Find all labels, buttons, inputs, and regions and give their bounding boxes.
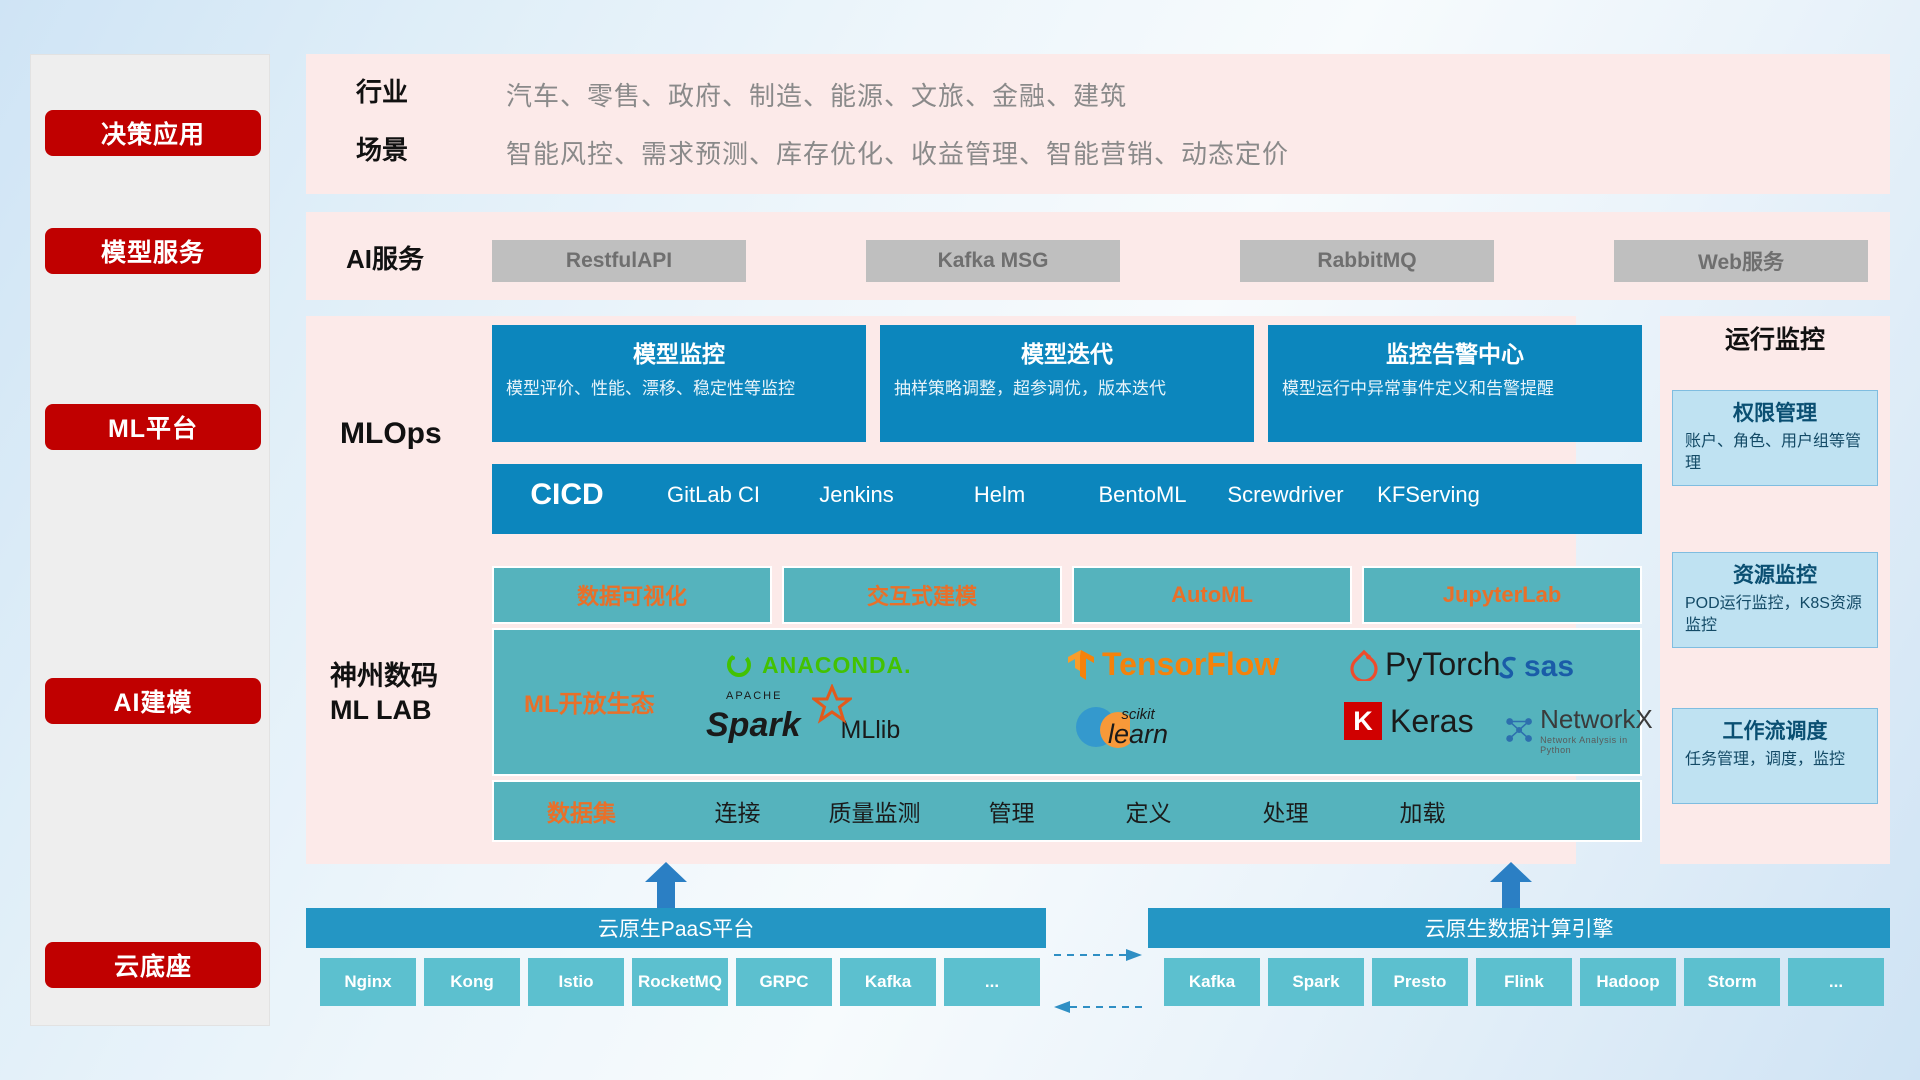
mlops-card-model-monitor[interactable]: 模型监控 模型评价、性能、漂移、稳定性等监控: [492, 325, 866, 442]
industry-label: 行业: [356, 76, 408, 109]
monitor-card-permission[interactable]: 权限管理 账户、角色、用户组等管理: [1672, 390, 1878, 486]
rail-label: ML平台: [108, 409, 198, 445]
mlops-card-alert-center[interactable]: 监控告警中心 模型运行中异常事件定义和告警提醒: [1268, 325, 1642, 442]
spark-wordmark: Spark: [706, 706, 801, 744]
cloud-chip-istio[interactable]: Istio: [528, 958, 624, 1006]
mllab-label-line2: ML LAB: [330, 694, 438, 728]
rail-item-decision-app[interactable]: 决策应用: [45, 110, 261, 156]
cloud-chip-storm[interactable]: Storm: [1684, 958, 1780, 1006]
mlops-card-model-iteration[interactable]: 模型迭代 抽样策略调整，超参调优，版本迭代: [880, 325, 1254, 442]
mlops-label: MLOps: [340, 415, 442, 453]
card-title: 工作流调度: [1685, 715, 1865, 745]
card-title: 监控告警中心: [1282, 335, 1628, 369]
monitor-card-resource[interactable]: 资源监控 POD运行监控，K8S资源监控: [1672, 552, 1878, 648]
anaconda-logo: ANACONDA.: [724, 650, 912, 680]
architecture-diagram: 决策应用 模型服务 ML平台 AI建模 云底座 行业 汽车、零售、政府、制造、能…: [0, 0, 1920, 1080]
cicd-heading: CICD: [492, 464, 642, 512]
keras-logo: K Keras: [1344, 702, 1474, 740]
layer-rail: [30, 54, 270, 1026]
spark-star-icon: [812, 684, 852, 724]
cloud-chip-kafka-right[interactable]: Kafka: [1164, 958, 1260, 1006]
mllab-label-line1: 神州数码: [330, 660, 438, 694]
decision-app-band: [306, 54, 1890, 194]
networkx-logo: NetworkX Network Analysis in Python: [1504, 704, 1655, 755]
dataset-item-quality-monitor[interactable]: 质量监测: [806, 794, 943, 828]
pytorch-icon: [1349, 649, 1379, 681]
rail-item-ml-platform[interactable]: ML平台: [45, 404, 261, 450]
cloud-chip-hadoop[interactable]: Hadoop: [1580, 958, 1676, 1006]
cicd-item-jenkins[interactable]: Jenkins: [785, 464, 928, 507]
cicd-item-screwdriver[interactable]: Screwdriver: [1214, 464, 1357, 507]
keras-mark: K: [1353, 706, 1373, 737]
keras-wordmark: Keras: [1390, 703, 1474, 740]
cicd-item-kfserving[interactable]: KFServing: [1357, 464, 1500, 507]
rail-label: 模型服务: [101, 233, 205, 269]
sas-icon: [1494, 653, 1522, 681]
anaconda-wordmark: ANACONDA.: [762, 652, 912, 679]
cloud-chip-kong[interactable]: Kong: [424, 958, 520, 1006]
networkx-icon: [1504, 713, 1536, 747]
cloud-paas-bar[interactable]: 云原生PaaS平台: [306, 908, 1046, 948]
tab-data-visualization[interactable]: 数据可视化: [492, 566, 772, 624]
networkx-tagline: Network Analysis in Python: [1540, 735, 1655, 755]
cloud-chip-nginx[interactable]: Nginx: [320, 958, 416, 1006]
spark-apache-text: APACHE: [726, 690, 782, 702]
tab-automl[interactable]: AutoML: [1072, 566, 1352, 624]
anaconda-icon: [724, 650, 754, 680]
cicd-item-gitlab-ci[interactable]: GitLab CI: [642, 464, 785, 507]
cloud-chip-flink[interactable]: Flink: [1476, 958, 1572, 1006]
cloud-chip-spark[interactable]: Spark: [1268, 958, 1364, 1006]
scenario-label: 场景: [356, 134, 408, 167]
rail-label: AI建模: [113, 683, 192, 719]
mllab-label: 神州数码 ML LAB: [330, 660, 438, 728]
sas-logo: sas: [1494, 650, 1574, 684]
service-pill-web-service[interactable]: Web服务: [1614, 240, 1868, 282]
arrow-left-dashed-icon: [1054, 1000, 1144, 1014]
card-title: 权限管理: [1685, 397, 1865, 427]
tab-jupyterlab[interactable]: JupyterLab: [1362, 566, 1642, 624]
tab-interactive-modeling[interactable]: 交互式建模: [782, 566, 1062, 624]
dataset-item-manage[interactable]: 管理: [943, 794, 1080, 828]
dataset-heading: 数据集: [494, 794, 669, 828]
arrow-right-dashed-icon: [1054, 948, 1144, 962]
dataset-bar: 数据集 连接 质量监测 管理 定义 处理 加载: [492, 780, 1642, 842]
rail-label: 决策应用: [101, 115, 205, 151]
arrow-up-data-engine-icon: [1490, 862, 1532, 910]
cloud-chip-presto[interactable]: Presto: [1372, 958, 1468, 1006]
dataset-item-process[interactable]: 处理: [1217, 794, 1354, 828]
rail-item-ai-modeling[interactable]: AI建模: [45, 678, 261, 724]
card-desc: 模型运行中异常事件定义和告警提醒: [1282, 377, 1628, 402]
card-title: 资源监控: [1685, 559, 1865, 589]
tensorflow-wordmark: TensorFlow: [1102, 646, 1279, 683]
card-desc: 账户、角色、用户组等管理: [1685, 431, 1865, 476]
cloud-chip-grpc[interactable]: GRPC: [736, 958, 832, 1006]
industry-text: 汽车、零售、政府、制造、能源、文旅、金融、建筑: [506, 76, 1127, 113]
cicd-bar: CICD GitLab CI Jenkins Helm BentoML Scre…: [492, 464, 1642, 534]
service-pill-restfulapi[interactable]: RestfulAPI: [492, 240, 746, 282]
scikit-learn-logo: scikit learn: [1074, 704, 1130, 750]
dataset-item-load[interactable]: 加载: [1354, 794, 1491, 828]
card-desc: POD运行监控，K8S资源监控: [1685, 593, 1865, 638]
ml-ecosystem-label: ML开放生态: [524, 684, 655, 719]
networkx-wordmark: NetworkX: [1540, 704, 1655, 735]
cloud-chip-rocketmq[interactable]: RocketMQ: [632, 958, 728, 1006]
tensorflow-icon: [1066, 648, 1096, 682]
card-title: 模型迭代: [894, 335, 1240, 369]
rail-item-cloud-base[interactable]: 云底座: [45, 942, 261, 988]
cloud-chip-kafka[interactable]: Kafka: [840, 958, 936, 1006]
sas-wordmark: sas: [1524, 650, 1574, 684]
scikit-text-bottom: learn: [1108, 719, 1168, 750]
keras-icon: K: [1344, 702, 1382, 740]
pytorch-wordmark: PyTorch: [1385, 646, 1501, 683]
rail-label: 云底座: [114, 947, 192, 983]
service-pill-kafka-msg[interactable]: Kafka MSG: [866, 240, 1120, 282]
cicd-item-helm[interactable]: Helm: [928, 464, 1071, 507]
card-desc: 模型评价、性能、漂移、稳定性等监控: [506, 377, 852, 402]
card-desc: 抽样策略调整，超参调优，版本迭代: [894, 377, 1240, 402]
spark-mllib-logo: APACHE Spark MLlib: [706, 706, 900, 745]
scenario-text: 智能风控、需求预测、库存优化、收益管理、智能营销、动态定价: [506, 134, 1289, 171]
rail-item-model-service[interactable]: 模型服务: [45, 228, 261, 274]
ml-ecosystem-panel: ML开放生态 ANACONDA. TensorFlow PyTorch: [492, 628, 1642, 776]
card-title: 模型监控: [506, 335, 852, 369]
cicd-item-bentoml[interactable]: BentoML: [1071, 464, 1214, 507]
card-desc: 任务管理，调度，监控: [1685, 749, 1865, 771]
cloud-chip-more-right[interactable]: ...: [1788, 958, 1884, 1006]
service-pill-rabbitmq[interactable]: RabbitMQ: [1240, 240, 1494, 282]
ai-service-label: AI服务: [346, 243, 424, 276]
arrow-up-paas-icon: [645, 862, 687, 910]
dataset-item-connect[interactable]: 连接: [669, 794, 806, 828]
dataset-item-define[interactable]: 定义: [1080, 794, 1217, 828]
runtime-monitoring-title: 运行监控: [1660, 320, 1890, 356]
cloud-data-engine-bar[interactable]: 云原生数据计算引擎: [1148, 908, 1890, 948]
pytorch-logo: PyTorch: [1349, 646, 1501, 683]
monitor-card-workflow[interactable]: 工作流调度 任务管理，调度，监控: [1672, 708, 1878, 804]
cloud-chip-more-left[interactable]: ...: [944, 958, 1040, 1006]
tensorflow-logo: TensorFlow: [1066, 646, 1279, 683]
